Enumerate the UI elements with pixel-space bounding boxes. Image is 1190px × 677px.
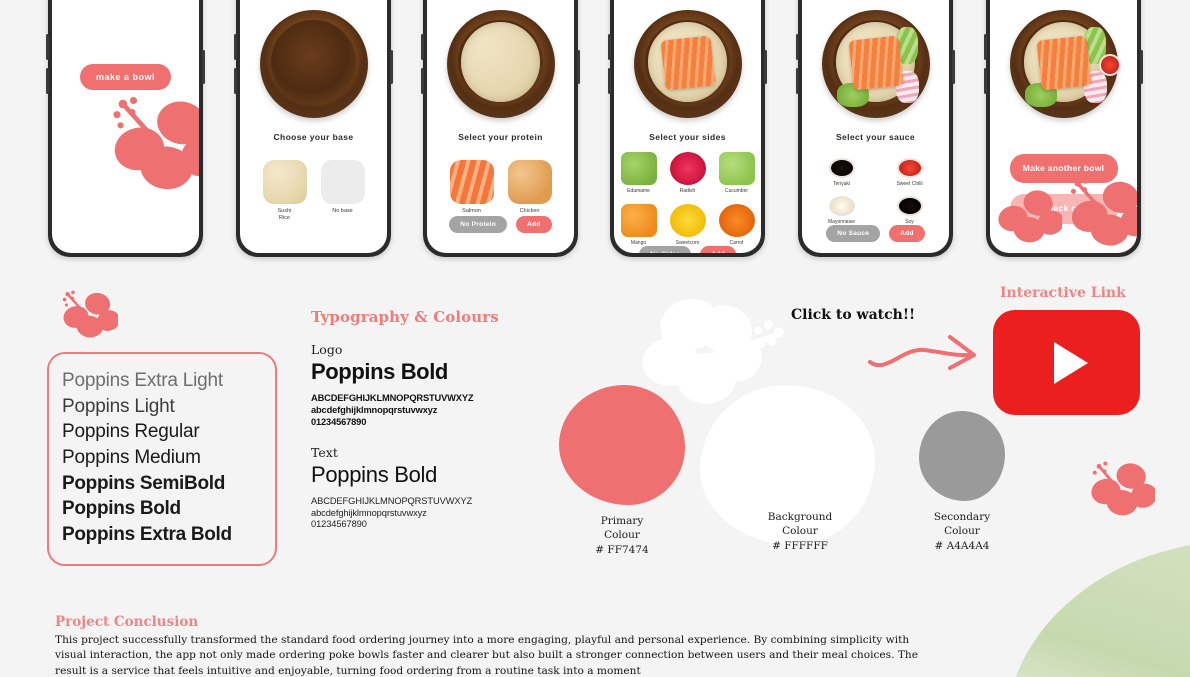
sauce-option-row-2: Mayonnaise Soy <box>819 196 933 225</box>
logo-uppercase-glyphs: ABCDEFGHIJKLMNOPQRSTUVWXYZ <box>311 393 541 405</box>
phone-volume-up-button <box>421 34 424 60</box>
protein-option-label: Salmon <box>462 208 481 215</box>
primary-colour-name: Primary <box>601 515 644 527</box>
sauce-option-row-1: Teriyaki Sweet Chilli <box>819 158 933 187</box>
sauce-option-soy[interactable]: Soy <box>887 196 933 225</box>
app-screen-sides: Select your sides Edamame Radish Cucumbe… <box>614 0 761 253</box>
hibiscus-icon <box>1064 172 1137 252</box>
phone-volume-up-button <box>234 34 237 60</box>
section-heading-typography: Typography & Colours <box>311 308 541 326</box>
secondary-colour-name: Secondary <box>934 511 990 523</box>
cucumber-swatch <box>719 152 755 185</box>
sauce-option-list: Teriyaki Sweet Chilli Mayonnaise <box>819 158 933 225</box>
text-font-label: Text <box>311 445 541 460</box>
protein-action-bar: No Protein Add <box>449 216 551 233</box>
background-colour-blob <box>745 389 855 501</box>
text-lowercase-glyphs: abcdefghijklmnopqrstuvwxyz <box>311 508 541 520</box>
phone-volume-up-button <box>608 34 611 60</box>
font-weight-sample: Poppins Bold <box>62 496 275 522</box>
secondary-colour-hex: # A4A4A4 <box>935 540 990 552</box>
screen-title-sauce: Select your sauce <box>836 132 915 142</box>
logo-glyph-set: ABCDEFGHIJKLMNOPQRSTUVWXYZ abcdefghijklm… <box>311 393 541 429</box>
font-weight-sample: Poppins Extra Bold <box>62 522 275 548</box>
text-uppercase-glyphs: ABCDEFGHIJKLMNOPQRSTUVWXYZ <box>311 496 541 508</box>
hibiscus-icon <box>104 88 199 198</box>
phone-volume-down-button <box>421 68 424 94</box>
phone-mockup-protein: Select your protein Salmon Chicken No Pr… <box>423 0 578 257</box>
no-sides-button[interactable]: No Sides <box>639 246 691 253</box>
sweetcorn-swatch <box>670 204 706 237</box>
phone-mockup-sides: Select your sides Edamame Radish Cucumbe… <box>610 0 765 257</box>
protein-option-label: Chicken <box>520 208 540 215</box>
phone-mockup-sauce: Select your sauce Teriyaki Sweet Chilli <box>798 0 953 257</box>
text-numeral-glyphs: 01234567890 <box>311 519 541 531</box>
curved-arrow-icon <box>866 320 991 370</box>
sides-option-edamame[interactable]: Edamame <box>618 152 660 194</box>
soy-swatch <box>897 196 923 216</box>
sauce-option-label: Teriyaki <box>833 181 850 187</box>
font-weight-sample: Poppins Medium <box>62 445 275 471</box>
background-colour-name: Background <box>768 511 833 523</box>
phone-mockup-final: Make another bowl Check out <box>986 0 1141 257</box>
mayonnaise-swatch <box>829 196 855 216</box>
base-option-label: Sushi <box>278 208 292 214</box>
sweet-chilli-swatch <box>897 158 923 178</box>
add-protein-button[interactable]: Add <box>516 216 552 233</box>
no-protein-button[interactable]: No Protein <box>449 216 507 233</box>
base-option-no-base[interactable]: No base <box>319 160 367 222</box>
phone-power-button <box>202 50 205 84</box>
sauce-option-mayonnaise[interactable]: Mayonnaise <box>819 196 865 225</box>
sushi-rice-swatch <box>263 160 307 204</box>
primary-colour-blob <box>559 385 685 505</box>
mango-swatch <box>621 204 657 237</box>
interactive-link-title: Interactive Link <box>1000 285 1126 301</box>
sides-option-label: Cucumber <box>725 188 748 194</box>
phone-volume-up-button <box>984 34 987 60</box>
chicken-swatch <box>508 160 552 204</box>
sauce-option-teriyaki[interactable]: Teriyaki <box>819 158 865 187</box>
protein-option-chicken[interactable]: Chicken <box>506 160 554 215</box>
colour-swatch-secondary: Secondary Colour # A4A4A4 <box>892 411 1032 553</box>
primary-colour-hex: # FF7474 <box>595 544 648 556</box>
phone-volume-up-button <box>796 34 799 60</box>
conclusion-body: This project successfully transformed th… <box>55 633 935 677</box>
secondary-colour-blob <box>919 411 1005 501</box>
radish-swatch <box>670 152 706 185</box>
play-triangle-icon <box>1054 342 1088 384</box>
sides-option-mango[interactable]: Mango <box>618 204 660 246</box>
bowl-with-rice-graphic <box>447 10 555 118</box>
text-font-name: Poppins Bold <box>311 462 541 488</box>
app-screen-landing: make a bowl <box>52 0 199 253</box>
project-conclusion-section: Project Conclusion This project successf… <box>55 614 935 677</box>
font-weight-sample: Poppins Regular <box>62 419 275 445</box>
salmon-swatch <box>450 160 494 204</box>
screen-title-base: Choose your base <box>273 132 353 142</box>
sides-action-bar: No Sides Add <box>639 246 736 253</box>
background-colour-hex: # FFFFFF <box>772 540 828 552</box>
add-sauce-button[interactable]: Add <box>889 225 925 242</box>
phone-mockup-base: Choose your base SushiRice No base <box>236 0 391 257</box>
bowl-with-salmon-graphic <box>634 10 742 118</box>
screen-title-protein: Select your protein <box>458 132 543 142</box>
sides-option-label: Radish <box>680 188 696 194</box>
edamame-swatch <box>621 152 657 185</box>
typography-and-colours-section: Typography & Colours Logo Poppins Bold A… <box>311 308 541 531</box>
sides-option-cucumber[interactable]: Cucumber <box>716 152 758 194</box>
hibiscus-icon <box>992 182 1062 248</box>
empty-bowl-graphic <box>260 10 368 118</box>
logo-font-name: Poppins Bold <box>311 359 541 385</box>
sides-option-row-2: Mango Sweetcorn Carrot <box>618 204 758 246</box>
phone-volume-down-button <box>608 68 611 94</box>
colour-swatch-background: Background Colour # FFFFFF <box>730 389 870 553</box>
sauce-option-label: Sweet Chilli <box>896 181 922 187</box>
teriyaki-swatch <box>829 158 855 178</box>
sauce-action-bar: No Sauce Add <box>826 225 925 242</box>
hibiscus-icon <box>58 286 118 342</box>
conclusion-heading: Project Conclusion <box>55 614 935 630</box>
sauce-option-sweet-chilli[interactable]: Sweet Chilli <box>887 158 933 187</box>
sauce-dish-graphic <box>1099 54 1121 76</box>
phone-mockups-row: make a bowl <box>0 0 1190 267</box>
presentation-board: make a bowl <box>0 0 1190 677</box>
sides-option-label: Edamame <box>627 188 650 194</box>
base-option-label: No base <box>332 208 353 215</box>
phone-volume-down-button <box>46 68 49 94</box>
logo-font-label: Logo <box>311 342 541 357</box>
no-sauce-button[interactable]: No Sauce <box>826 225 880 242</box>
protein-option-salmon[interactable]: Salmon <box>448 160 496 215</box>
phone-power-button <box>390 50 393 84</box>
base-option-sushi-rice[interactable]: SushiRice <box>261 160 309 222</box>
screen-title-sides: Select your sides <box>649 132 726 142</box>
colour-swatch-primary: Primary Colour # FF7474 <box>552 385 692 557</box>
phone-volume-down-button <box>234 68 237 94</box>
green-leaf-decoration <box>995 541 1190 677</box>
youtube-play-button[interactable] <box>993 310 1140 415</box>
phone-power-button <box>764 50 767 84</box>
make-a-bowl-button[interactable]: make a bowl <box>80 64 171 90</box>
app-screen-base: Choose your base SushiRice No base <box>240 0 387 253</box>
no-base-swatch <box>321 160 365 204</box>
typography-specimen-box: Poppins Extra Light Poppins Light Poppin… <box>47 352 277 566</box>
app-screen-sauce: Select your sauce Teriyaki Sweet Chilli <box>802 0 949 253</box>
text-glyph-set: ABCDEFGHIJKLMNOPQRSTUVWXYZ abcdefghijklm… <box>311 496 541 532</box>
sides-option-carrot[interactable]: Carrot <box>716 204 758 246</box>
phone-volume-up-button <box>46 34 49 60</box>
font-weight-sample: Poppins SemiBold <box>62 471 275 497</box>
protein-option-list: Salmon Chicken <box>448 160 554 215</box>
carrot-swatch <box>719 204 755 237</box>
phone-volume-down-button <box>796 68 799 94</box>
sides-option-sweetcorn[interactable]: Sweetcorn <box>667 204 709 246</box>
phone-power-button <box>1140 50 1143 84</box>
sides-option-row-1: Edamame Radish Cucumber <box>618 152 758 194</box>
phone-mockup-landing: make a bowl <box>48 0 203 257</box>
font-weight-sample: Poppins Extra Light <box>62 368 275 394</box>
phone-power-button <box>952 50 955 84</box>
logo-numeral-glyphs: 01234567890 <box>311 417 541 429</box>
app-screen-protein: Select your protein Salmon Chicken No Pr… <box>427 0 574 253</box>
bowl-with-sides-graphic <box>822 10 930 118</box>
app-screen-final: Make another bowl Check out <box>990 0 1137 253</box>
phone-power-button <box>577 50 580 84</box>
sides-option-radish[interactable]: Radish <box>667 152 709 194</box>
hibiscus-icon <box>1085 455 1155 521</box>
phone-volume-down-button <box>984 68 987 94</box>
font-weight-sample: Poppins Light <box>62 394 275 420</box>
add-sides-button[interactable]: Add <box>700 246 736 253</box>
logo-lowercase-glyphs: abcdefghijklmnopqrstuvwxyz <box>311 405 541 417</box>
base-option-list: SushiRice No base <box>261 160 367 222</box>
